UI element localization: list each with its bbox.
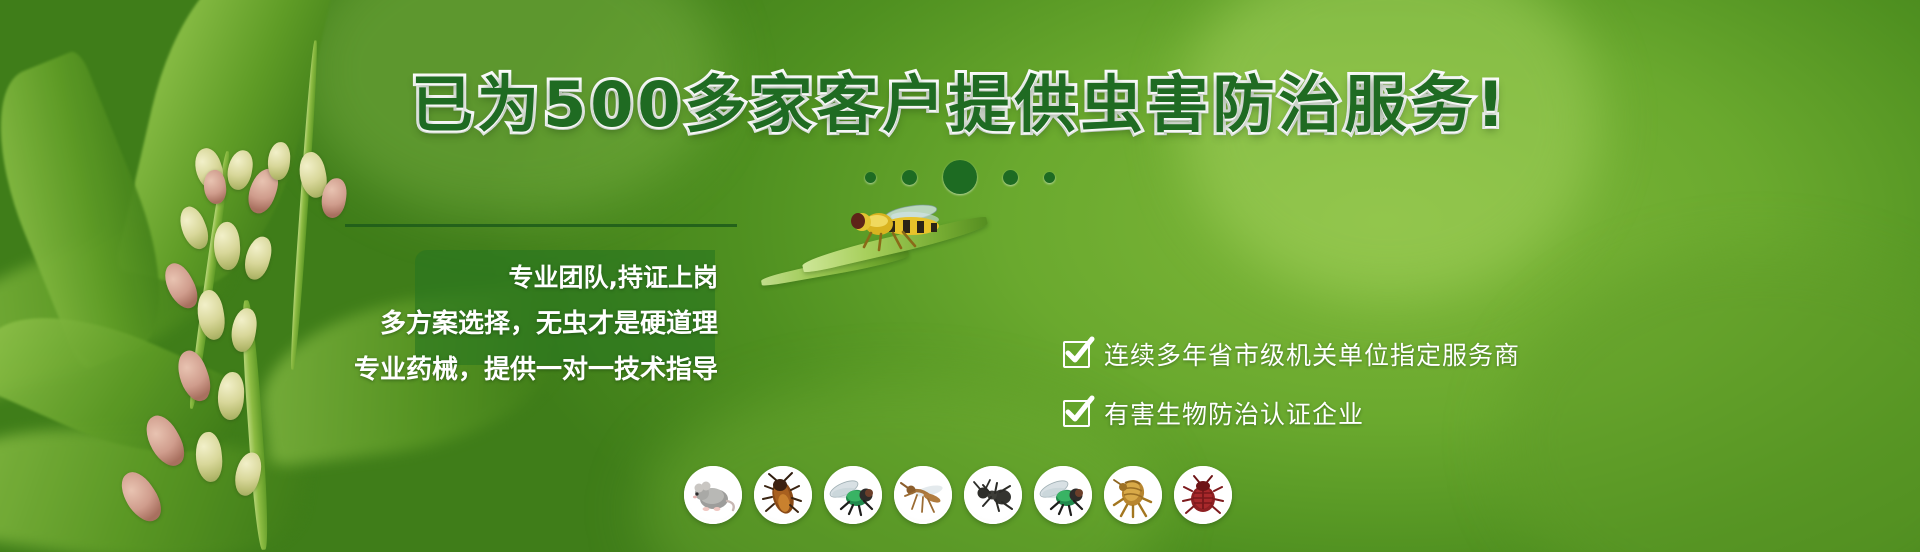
dot-medium [902,170,917,185]
housefly-icon [1039,471,1087,519]
mouse-icon [689,471,737,519]
dot-medium [1003,170,1018,185]
pest-icon-strip [684,466,1232,524]
divider-rule [345,224,737,227]
checklist-label: 有害生物防治认证企业 [1104,395,1364,431]
pest-icon-flea [1104,466,1162,524]
feature-checklist: 连续多年省市级机关单位指定服务商 有害生物防治认证企业 [1063,336,1520,431]
promo-banner: 已为500多家客户提供虫害防治服务! 专业团队,持证上岗 多方案选择，无虫才是硬… [0,0,1920,552]
mosquito-icon [899,471,947,519]
pest-icon-mosquito [894,466,952,524]
dot-small [1044,172,1055,183]
page-title: 已为500多家客户提供虫害防治服务! [0,74,1920,136]
background-bokeh [1180,0,1600,300]
pest-icon-greenbottle-fly [824,466,882,524]
pest-icon-bedbug [1174,466,1232,524]
checkbox-checked-icon [1063,400,1090,427]
pest-icon-cockroach [754,466,812,524]
bedbug-icon [1179,471,1227,519]
background-bokeh [1500,250,1920,552]
pest-icon-ant [964,466,1022,524]
slogan-line-2: 多方案选择，无虫才是硬道理 [330,303,750,340]
slogan-list: 专业团队,持证上岗 多方案选择，无虫才是硬道理 专业药械，提供一对一技术指导 [330,258,750,386]
slogan-line-1: 专业团队,持证上岗 [330,258,750,294]
ant-icon [969,471,1017,519]
headline-text: 已为500多家客户提供虫害防治服务! [411,68,1509,141]
list-item: 有害生物防治认证企业 [1063,395,1520,431]
checkbox-checked-icon [1063,341,1090,368]
hoverfly-icon [845,200,965,260]
list-item: 连续多年省市级机关单位指定服务商 [1063,336,1520,372]
decorative-dots [0,160,1920,194]
pest-icon-housefly [1034,466,1092,524]
slogan-line-3: 专业药械，提供一对一技术指导 [330,349,750,386]
cockroach-icon [759,471,807,519]
flea-icon [1109,471,1157,519]
checklist-label: 连续多年省市级机关单位指定服务商 [1104,336,1520,372]
dot-small [865,172,876,183]
pest-icon-mouse [684,466,742,524]
greenbottle-fly-icon [829,471,877,519]
dot-large [943,160,977,194]
